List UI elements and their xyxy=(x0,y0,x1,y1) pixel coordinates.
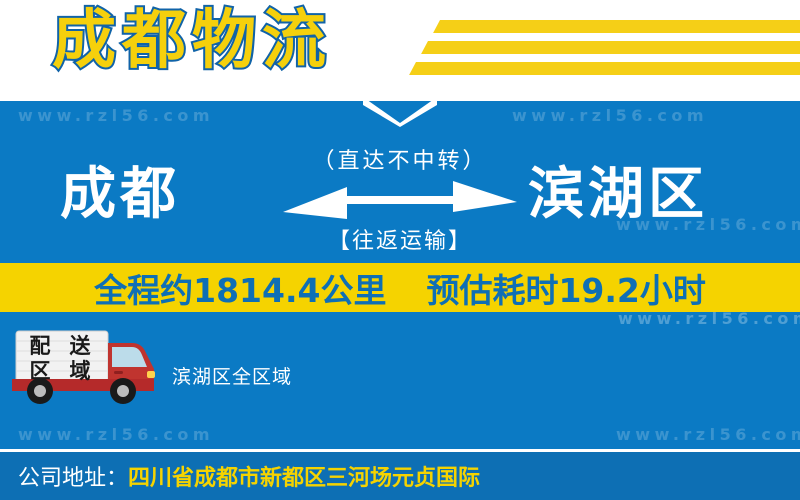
coverage-area-text: 滨湖区全区域 xyxy=(172,362,292,389)
decorative-stripe-1 xyxy=(433,20,800,33)
address-value: 四川省成都市新都区三河场元贞国际 xyxy=(128,460,480,492)
page-title: 成都物流 xyxy=(52,4,332,78)
main-content: www.rzl56.com www.rzl56.com 成都 滨湖区 （直达不中… xyxy=(0,97,800,500)
truck-label-char: 域 xyxy=(60,359,100,384)
truck-label-char: 区 xyxy=(20,359,60,384)
decorative-stripe-2 xyxy=(421,41,800,54)
header-band: 成都物流 xyxy=(0,0,800,97)
chevron-down-icon xyxy=(363,97,437,127)
distance-value: 全程约1814.4公里 xyxy=(94,264,386,312)
watermark: www.rzl56.com xyxy=(616,425,800,444)
decorative-stripe-3 xyxy=(409,62,800,75)
address-bar: 公司地址： 四川省成都市新都区三河场元贞国际 xyxy=(0,452,800,500)
truck-label: 配 送 区 域 xyxy=(20,333,100,385)
truck-label-char: 送 xyxy=(60,334,100,359)
truck-label-char: 配 xyxy=(20,334,60,359)
direct-shipping-note: （直达不中转） xyxy=(0,143,800,175)
watermark: www.rzl56.com xyxy=(18,106,214,125)
logistics-banner: 成都物流 www.rzl56.com www.rzl56.com 成都 滨湖区 … xyxy=(0,0,800,500)
metrics-band: 全程约1814.4公里 预估耗时19.2小时 xyxy=(0,263,800,312)
round-trip-note: 【往返运输】 xyxy=(0,223,800,255)
address-label: 公司地址： xyxy=(18,460,128,492)
watermark: www.rzl56.com xyxy=(512,106,708,125)
duration-value: 预估耗时19.2小时 xyxy=(426,264,705,312)
watermark: www.rzl56.com xyxy=(18,425,214,444)
double-arrow-icon xyxy=(283,179,517,219)
